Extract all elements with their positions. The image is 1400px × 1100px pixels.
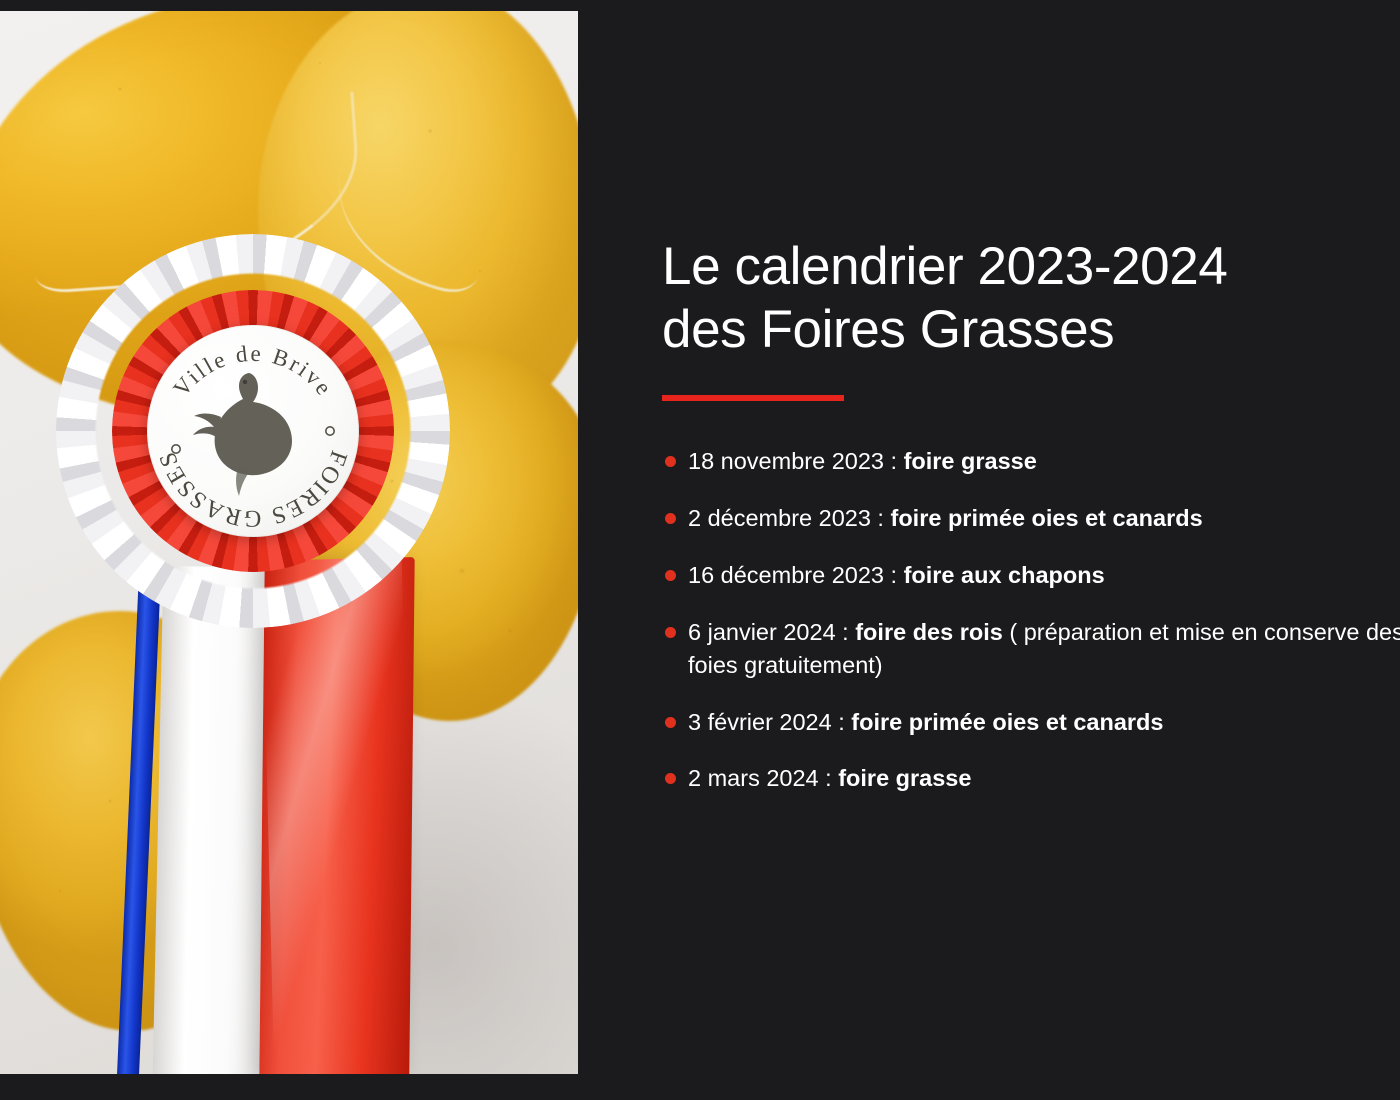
content-column: Le calendrier 2023-2024 des Foires Grass… [662,0,1400,1100]
list-item: 3 février 2024 : foire primée oies et ca… [662,706,1400,739]
event-date: 6 janvier 2024 : [688,619,855,645]
foires-grasses-photo: Ville de Brive FOIRES GRASSES [0,11,578,1074]
bullet-icon [665,773,676,784]
event-date: 3 février 2024 : [688,709,851,735]
medallion-dot-right [326,427,334,435]
event-name: foire grasse [838,765,971,791]
slide-root: Ville de Brive FOIRES GRASSES Le calendr… [0,0,1400,1100]
foires-calendar-list: 18 novembre 2023 : foire grasse2 décembr… [662,445,1400,795]
list-item: 2 mars 2024 : foire grasse [662,762,1400,795]
bullet-icon [665,456,676,467]
event-name: foire aux chapons [904,562,1105,588]
event-date: 2 mars 2024 : [688,765,838,791]
page-title: Le calendrier 2023-2024 des Foires Grass… [662,236,1400,361]
list-item: 18 novembre 2023 : foire grasse [662,445,1400,478]
list-item: 16 décembre 2023 : foire aux chapons [662,559,1400,592]
list-item: 6 janvier 2024 : foire des rois ( prépar… [662,616,1400,682]
photo-stage: Ville de Brive FOIRES GRASSES [0,11,578,1074]
event-name: foire grasse [904,448,1037,474]
title-accent-rule [662,395,844,401]
bullet-icon [665,570,676,581]
list-item: 2 décembre 2023 : foire primée oies et c… [662,502,1400,535]
event-date: 16 décembre 2023 : [688,562,904,588]
event-name: foire primée oies et canards [851,709,1163,735]
bullet-icon [665,513,676,524]
event-name: foire primée oies et canards [891,505,1203,531]
goose-icon [193,373,292,496]
event-date: 18 novembre 2023 : [688,448,904,474]
rosette-medallion: Ville de Brive FOIRES GRASSES [147,325,359,537]
bullet-icon [665,627,676,638]
event-name: foire des rois [855,619,1003,645]
bullet-icon [665,717,676,728]
event-date: 2 décembre 2023 : [688,505,891,531]
tricolour-rosette: Ville de Brive FOIRES GRASSES [8,186,498,676]
